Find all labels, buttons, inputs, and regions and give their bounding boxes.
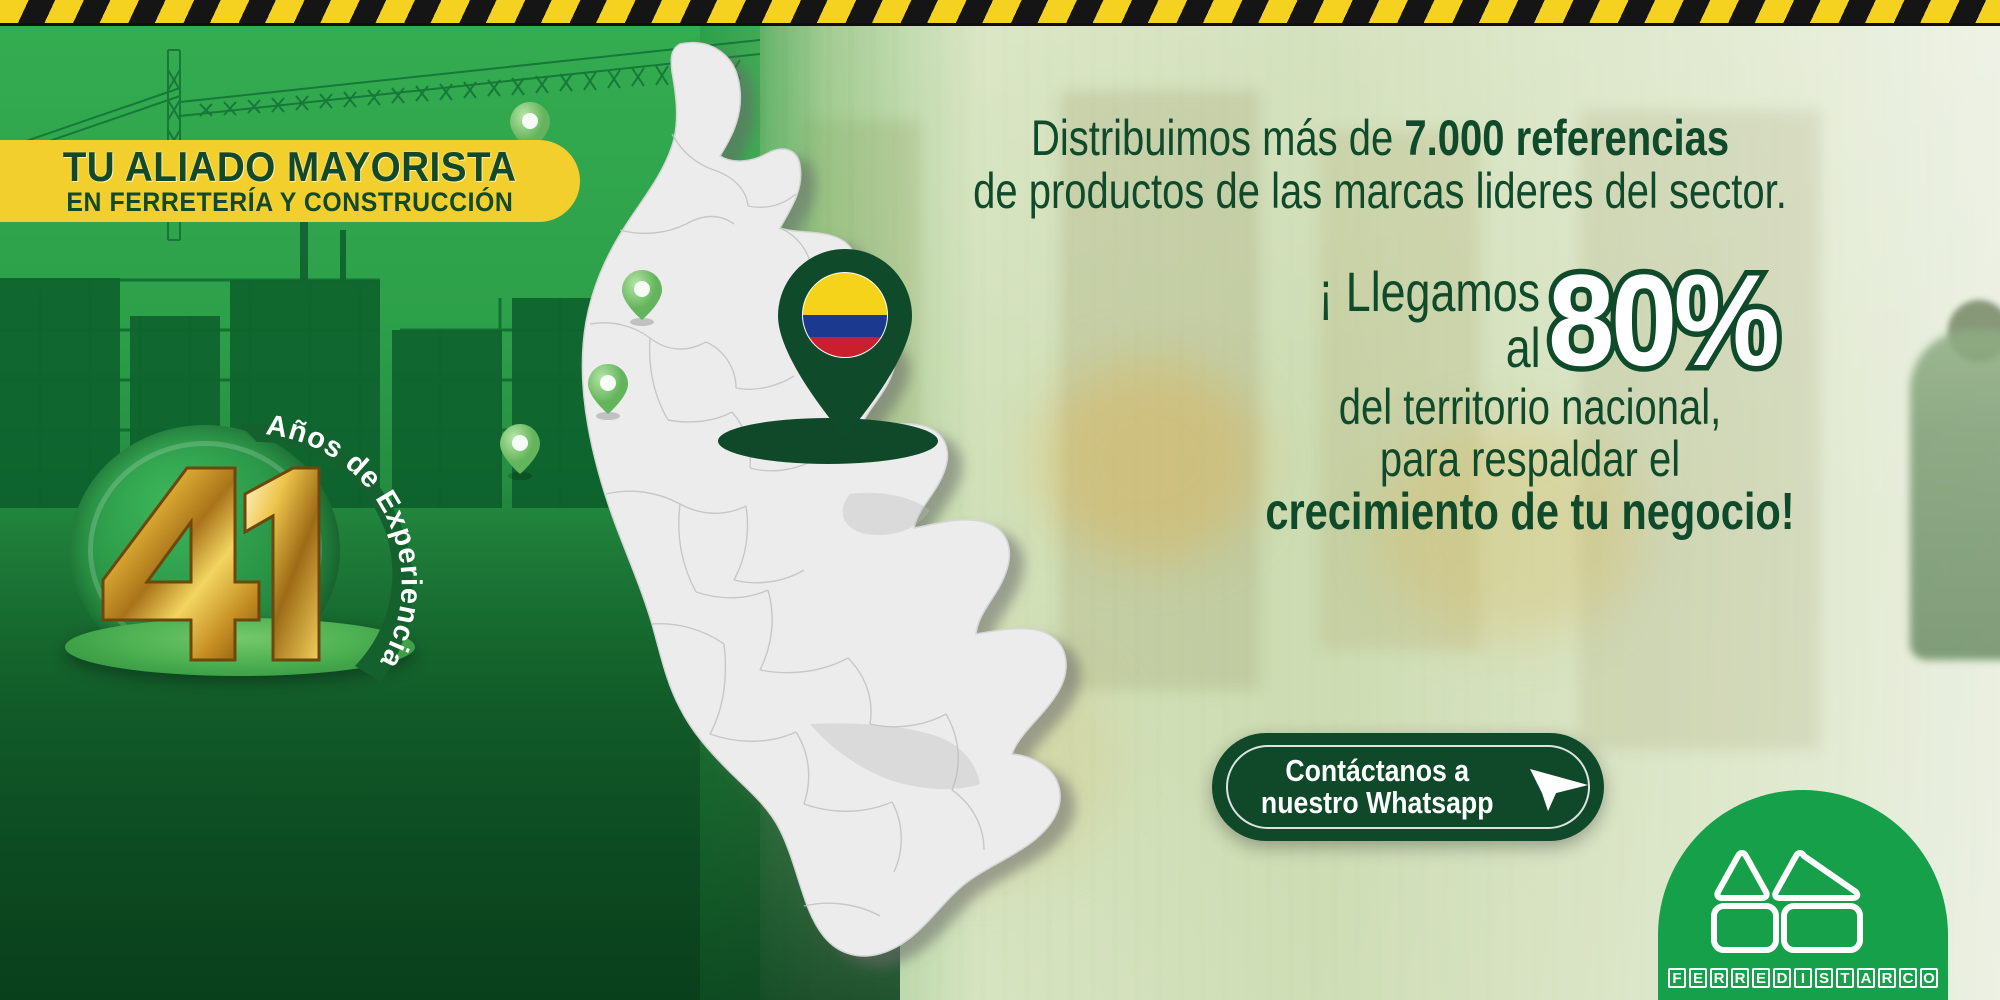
claim-row: ¡ Llegamos al 80%: [1060, 262, 2000, 379]
claim-llegamos: ¡ Llegamos: [1319, 265, 1541, 320]
wordmark-letter: T: [1836, 968, 1854, 988]
anniversary-arc-text: Años de Experiencia: [264, 409, 427, 674]
house-logo-icon: [1680, 834, 1880, 954]
claim-left: ¡ Llegamos al: [1263, 265, 1540, 376]
location-pin-2[interactable]: [620, 268, 664, 326]
promo-banner: TU ALIADO MAYORISTA EN FERRETERÍA Y CONS…: [0, 0, 2000, 1000]
tagline-line1: TU ALIADO MAYORISTA: [63, 146, 517, 187]
colombia-flag-pin[interactable]: [770, 245, 920, 445]
wordmark-letter: E: [1752, 968, 1770, 988]
location-pin-4[interactable]: [498, 422, 542, 480]
wordmark-letter: E: [1689, 968, 1707, 988]
wordmark-letter: I: [1794, 968, 1812, 988]
wordmark-letter: R: [1710, 968, 1728, 988]
claim-sub3: crecimiento de tu negocio!: [1154, 485, 1906, 539]
wordmark-letter: F: [1668, 968, 1686, 988]
headline-line1: Distribuimos más de 7.000 referencias: [884, 112, 1876, 165]
tagline-line2: EN FERRETERÍA Y CONSTRUCCIÓN: [66, 189, 513, 216]
anniversary-arc: Años de Experiencia: [205, 400, 495, 700]
whatsapp-cta-line2: nuestro Whatsapp: [1261, 787, 1494, 819]
claim-sub1: del territorio nacional,: [1154, 381, 1906, 433]
brand-wordmark: FERREDISTARCO: [1658, 968, 1948, 988]
tagline-badge: TU ALIADO MAYORISTA EN FERRETERÍA Y CONS…: [0, 140, 580, 222]
claim-sub2: para respaldar el: [1154, 433, 1906, 485]
whatsapp-cta-label: Contáctanos a nuestro Whatsapp: [1261, 755, 1494, 818]
anniversary-badge: Años de Experiencia: [55, 400, 455, 710]
claim-sub: del territorio nacional, para respaldar …: [1060, 381, 2000, 539]
location-pin-3[interactable]: [586, 362, 630, 420]
paper-plane-icon: [1526, 759, 1592, 815]
wordmark-letter: D: [1773, 968, 1791, 988]
wordmark-letter: R: [1878, 968, 1896, 988]
whatsapp-cta-line1: Contáctanos a: [1261, 755, 1494, 787]
svg-text:Años de Experiencia: Años de Experiencia: [264, 409, 427, 674]
wordmark-letter: O: [1920, 968, 1938, 988]
wordmark-letter: R: [1731, 968, 1749, 988]
hazard-stripe-top: [0, 0, 2000, 26]
whatsapp-cta-button[interactable]: Contáctanos a nuestro Whatsapp: [1212, 733, 1604, 841]
claim-al: al: [1506, 320, 1541, 376]
claim-block: ¡ Llegamos al 80% del territorio naciona…: [1060, 262, 2000, 539]
wordmark-letter: A: [1857, 968, 1875, 988]
headline-line2: de productos de las marcas lideres del s…: [884, 165, 1876, 218]
wordmark-letter: S: [1815, 968, 1833, 988]
claim-percent: 80%: [1548, 262, 1776, 379]
headline-block: Distribuimos más de 7.000 referencias de…: [760, 112, 2000, 218]
wordmark-letter: C: [1899, 968, 1917, 988]
